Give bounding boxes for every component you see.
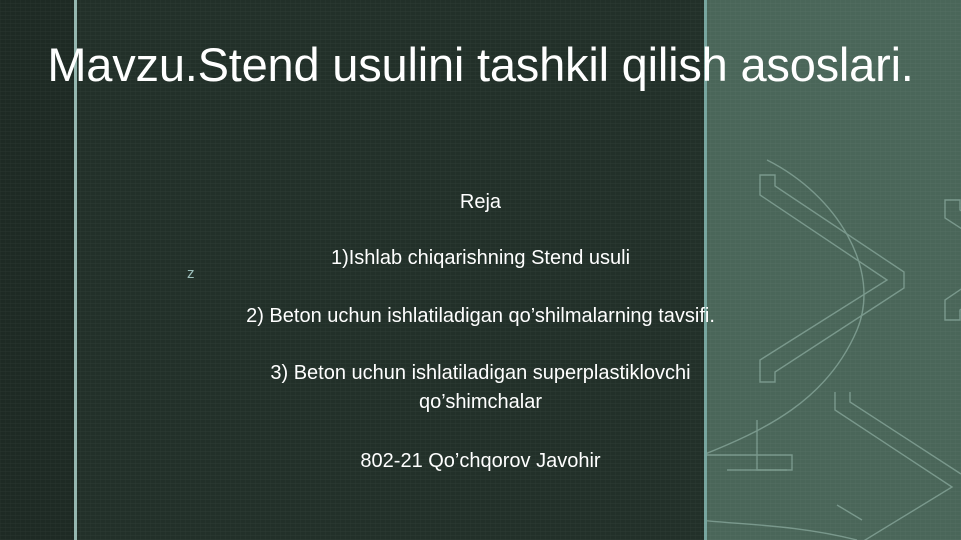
body-line-author: 802-21 Qo’chqorov Javohir (20, 447, 941, 475)
body-line-item-2: 2) Beton uchun ishlatiladigan qo’shilmal… (20, 302, 941, 330)
slide-title-line-2: asoslari. (740, 38, 913, 91)
body-line-item-1: 1)Ishlab chiqarishning Stend usuli (20, 244, 941, 272)
body-line-item-3-cont: qo’shimchalar (20, 388, 941, 416)
body-line-reja: Reja (20, 188, 941, 216)
slide-content: Mavzu.Stend usulini tashkil qilish asosl… (0, 0, 961, 540)
slide-title: Mavzu.Stend usulini tashkil qilish asosl… (20, 32, 941, 98)
slide-body: Reja 1)Ishlab chiqarishning Stend usuli … (20, 188, 941, 475)
slide-title-line-1: Mavzu.Stend usulini tashkil qilish (47, 38, 727, 91)
body-line-item-3: 3) Beton uchun ishlatiladigan superplast… (20, 359, 941, 387)
presentation-slide: Mavzu.Stend usulini tashkil qilish asosl… (0, 0, 961, 540)
